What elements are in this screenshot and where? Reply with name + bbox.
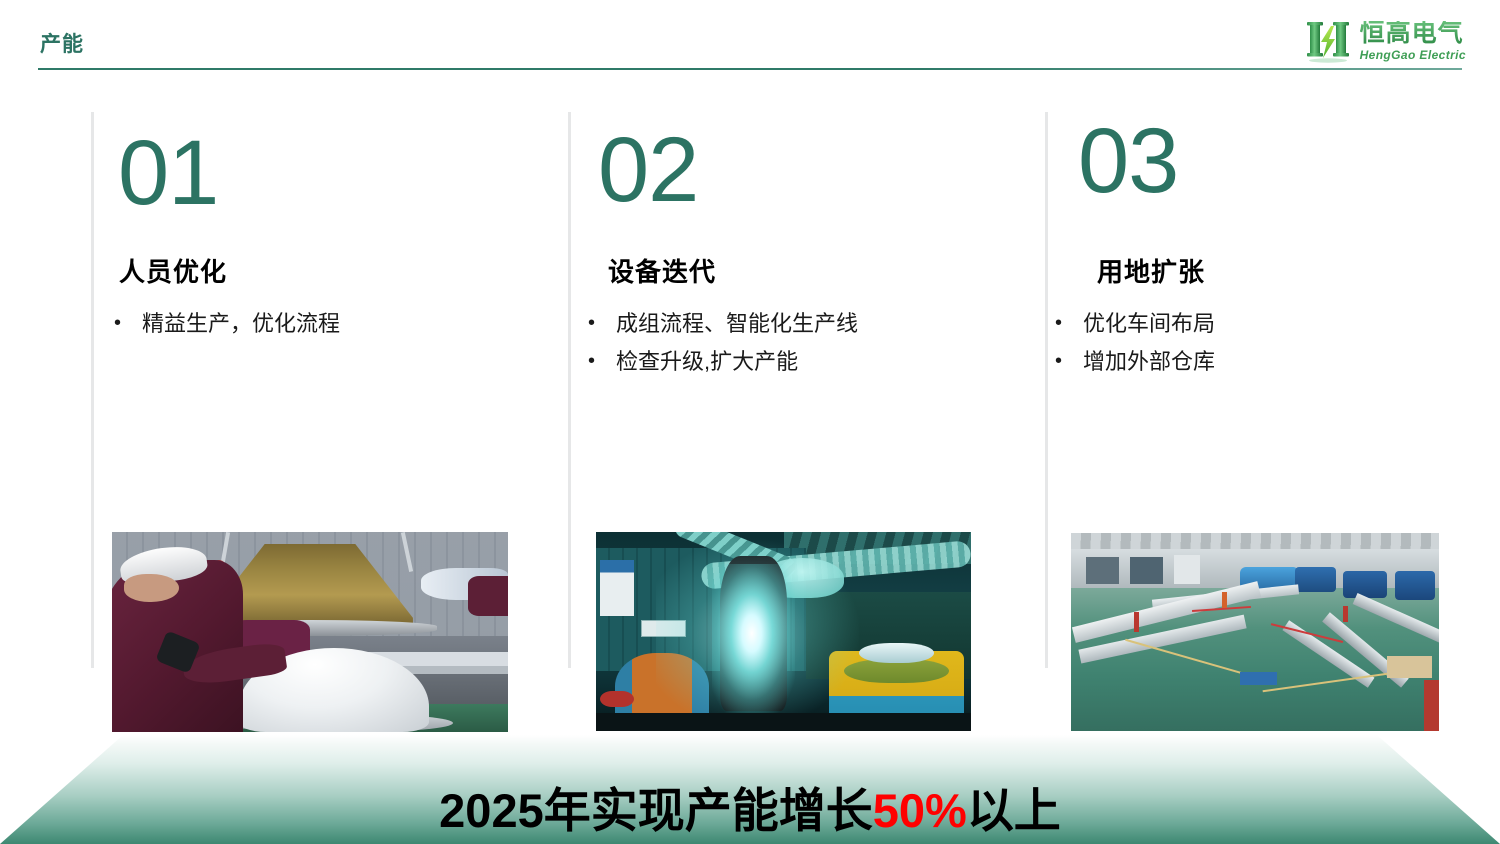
list-item: • 优化车间布局 — [1055, 308, 1215, 340]
bottom-goal-text: 2025年实现产能增长50%以上 — [0, 772, 1500, 841]
column-divider — [91, 112, 94, 668]
goal-highlight-value: 50% — [873, 784, 967, 837]
h-lightning-logo-icon — [1304, 18, 1352, 66]
column-number: 01 — [118, 132, 218, 215]
list-item-label: 成组流程、智能化生产线 — [616, 308, 858, 340]
column-divider — [1045, 112, 1048, 668]
column-divider — [568, 112, 571, 668]
company-logo: 恒高电气 HengGao Electric — [1304, 16, 1466, 68]
list-item: • 增加外部仓库 — [1055, 346, 1215, 378]
column-number: 03 — [1078, 120, 1178, 203]
factory-floor-assembly-line-photo — [1071, 533, 1439, 731]
bullet-dot-icon: • — [1055, 308, 1083, 338]
page-title: 产能 — [40, 28, 84, 58]
list-item-label: 精益生产，优化流程 — [142, 308, 340, 340]
bullet-dot-icon: • — [1055, 346, 1083, 376]
bullet-list: • 成组流程、智能化生产线 • 检查升级,扩大产能 — [588, 308, 858, 378]
column-heading: 用地扩张 — [1097, 252, 1205, 289]
worker-inspecting-bronze-mold-photo — [112, 532, 508, 732]
column-heading: 人员优化 — [119, 252, 227, 289]
bullet-list: • 优化车间布局 • 增加外部仓库 — [1055, 308, 1215, 378]
logo-wordmark: 恒高电气 HengGao Electric — [1360, 21, 1466, 62]
goal-text-after: 以上 — [967, 784, 1061, 837]
list-item: • 检查升级,扩大产能 — [588, 346, 858, 378]
goal-text-before: 2025年实现产能增长 — [439, 784, 873, 837]
column-heading: 设备迭代 — [608, 252, 716, 289]
title-underline-divider — [38, 68, 1462, 70]
list-item: • 精益生产，优化流程 — [114, 308, 340, 340]
bullet-dot-icon: • — [588, 346, 616, 376]
column-number: 02 — [598, 129, 698, 212]
list-item-label: 优化车间布局 — [1083, 308, 1215, 340]
robotic-welding-cell-photo — [596, 532, 971, 731]
bullet-dot-icon: • — [588, 308, 616, 338]
bullet-dot-icon: • — [114, 308, 142, 338]
logo-chinese-name: 恒高电气 — [1360, 21, 1466, 46]
list-item-label: 增加外部仓库 — [1083, 346, 1215, 378]
logo-english-name: HengGao Electric — [1360, 48, 1466, 62]
slide-header: 产能 — [0, 0, 1500, 80]
list-item: • 成组流程、智能化生产线 — [588, 308, 858, 340]
bullet-list: • 精益生产，优化流程 — [114, 308, 340, 340]
list-item-label: 检查升级,扩大产能 — [616, 346, 798, 378]
